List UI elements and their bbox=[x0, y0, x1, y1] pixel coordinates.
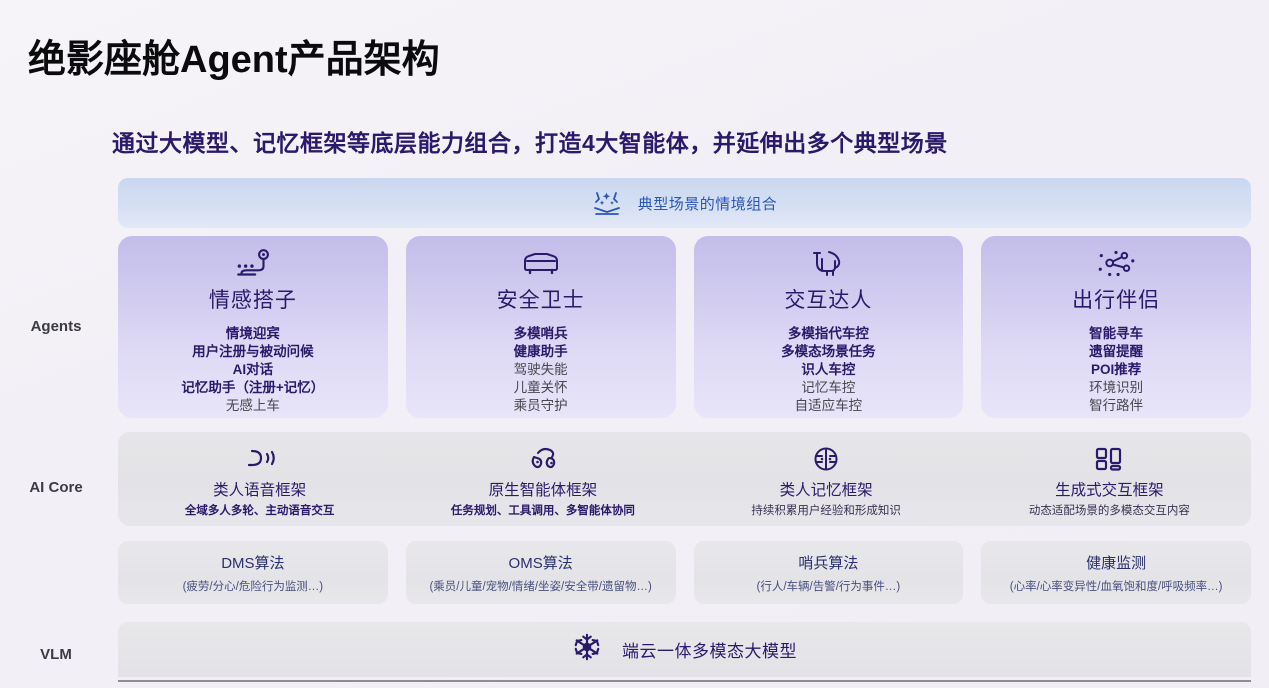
agent-name: 安全卫士 bbox=[497, 284, 585, 314]
agent-item-list: 多模指代车控 多模态场景任务 识人车控 记忆车控 自适应车控 bbox=[781, 325, 876, 415]
brain-icon bbox=[811, 443, 841, 475]
scenario-banner-label: 典型场景的情境组合 bbox=[638, 193, 778, 214]
algorithm-subtitle: (乘员/儿童/宠物/情绪/坐姿/安全带/遗留物…) bbox=[429, 578, 651, 594]
agent-item-list: 智能寻车 遗留提醒 POI推荐 环境识别 智行路伴 bbox=[1089, 325, 1143, 415]
agent-item-list: 情境迎宾 用户注册与被动问候 AI对话 记忆助手（注册+记忆） 无感上车 bbox=[181, 325, 324, 415]
ai-core-title: 类人语音框架 bbox=[213, 478, 306, 500]
algorithm-subtitle: (疲劳/分心/危险行为监测…) bbox=[183, 578, 324, 594]
row-label-vlm: VLM bbox=[0, 646, 112, 663]
algorithm-card-oms[interactable]: OMS算法 (乘员/儿童/宠物/情绪/坐姿/安全带/遗留物…) bbox=[406, 541, 676, 604]
agent-robot-icon bbox=[525, 443, 561, 475]
algorithm-card-health[interactable]: 健康监测 (心率/心率变异性/血氧饱和度/呼吸频率…) bbox=[981, 541, 1251, 604]
agent-item-list: 多模哨兵 健康助手 驾驶失能 儿童关怀 乘员守护 bbox=[514, 325, 568, 415]
car-front-icon bbox=[519, 247, 563, 281]
agent-item: 遗留提醒 bbox=[1089, 343, 1143, 361]
row-label-agents: Agents bbox=[0, 318, 112, 335]
page-title: 绝影座舱Agent产品架构 bbox=[28, 28, 440, 83]
agent-item: 驾驶失能 bbox=[514, 361, 568, 379]
agent-item: 记忆车控 bbox=[781, 379, 876, 397]
hand-gesture-icon bbox=[809, 247, 847, 281]
voice-wave-icon bbox=[243, 443, 277, 475]
agent-item: AI对话 bbox=[181, 361, 324, 379]
agent-item: 乘员守护 bbox=[514, 397, 568, 415]
agent-item: 多模态场景任务 bbox=[781, 343, 876, 361]
route-pin-icon bbox=[232, 247, 274, 281]
ai-core-title: 生成式交互框架 bbox=[1055, 478, 1164, 500]
row-label-ai-core: AI Core bbox=[0, 479, 112, 496]
agent-name: 出行伴侣 bbox=[1072, 284, 1160, 314]
algorithm-title: 健康监测 bbox=[1086, 552, 1146, 573]
layout-blocks-icon bbox=[1094, 443, 1124, 475]
ai-core-subtitle: 动态适配场景的多模态交互内容 bbox=[1029, 502, 1190, 518]
agent-item: 记忆助手（注册+记忆） bbox=[181, 379, 324, 397]
snowflake-cube-icon bbox=[572, 632, 602, 667]
vlm-label: 端云一体多模态大模型 bbox=[622, 637, 797, 662]
algorithm-title: 哨兵算法 bbox=[798, 552, 858, 573]
network-nodes-icon bbox=[1095, 247, 1137, 281]
algorithm-title: DMS算法 bbox=[221, 552, 284, 573]
algorithm-title: OMS算法 bbox=[509, 552, 573, 573]
ai-core-title: 类人记忆框架 bbox=[780, 478, 873, 500]
scenario-banner: 典型场景的情境组合 bbox=[118, 178, 1251, 228]
bottom-divider bbox=[118, 680, 1251, 682]
agent-item: 儿童关怀 bbox=[514, 379, 568, 397]
sparkle-scene-icon bbox=[592, 190, 620, 216]
ai-core-item-generative[interactable]: 生成式交互框架 动态适配场景的多模态交互内容 bbox=[968, 432, 1251, 526]
agents-row: 情感搭子 情境迎宾 用户注册与被动问候 AI对话 记忆助手（注册+记忆） 无感上… bbox=[118, 236, 1251, 418]
agent-item: 情境迎宾 bbox=[181, 325, 324, 343]
algorithm-row: DMS算法 (疲劳/分心/危险行为监测…) OMS算法 (乘员/儿童/宠物/情绪… bbox=[118, 541, 1251, 604]
ai-core-subtitle: 全域多人多轮、主动语音交互 bbox=[185, 502, 335, 518]
agent-card-emotion[interactable]: 情感搭子 情境迎宾 用户注册与被动问候 AI对话 记忆助手（注册+记忆） 无感上… bbox=[118, 236, 388, 418]
agent-card-interaction[interactable]: 交互达人 多模指代车控 多模态场景任务 识人车控 记忆车控 自适应车控 bbox=[694, 236, 964, 418]
agent-card-safety[interactable]: 安全卫士 多模哨兵 健康助手 驾驶失能 儿童关怀 乘员守护 bbox=[406, 236, 676, 418]
algorithm-card-dms[interactable]: DMS算法 (疲劳/分心/危险行为监测…) bbox=[118, 541, 388, 604]
agent-item: 智能寻车 bbox=[1089, 325, 1143, 343]
agent-item: 智行路伴 bbox=[1089, 397, 1143, 415]
page-subtitle: 通过大模型、记忆框架等底层能力组合，打造4大智能体，并延伸出多个典型场景 bbox=[112, 124, 948, 158]
agent-item: 多模指代车控 bbox=[781, 325, 876, 343]
agent-item: 识人车控 bbox=[781, 361, 876, 379]
agent-name: 交互达人 bbox=[784, 284, 872, 314]
slide-root: 绝影座舱Agent产品架构 通过大模型、记忆框架等底层能力组合，打造4大智能体，… bbox=[0, 0, 1269, 688]
agent-item: 健康助手 bbox=[514, 343, 568, 361]
agent-card-travel[interactable]: 出行伴侣 智能寻车 遗留提醒 POI推荐 环境识别 智行路伴 bbox=[981, 236, 1251, 418]
algorithm-subtitle: (心率/心率变异性/血氧饱和度/呼吸频率…) bbox=[1010, 578, 1223, 594]
ai-core-title: 原生智能体框架 bbox=[489, 478, 598, 500]
agent-item: 无感上车 bbox=[181, 397, 324, 415]
vlm-row: 端云一体多模态大模型 bbox=[118, 622, 1251, 677]
ai-core-item-memory[interactable]: 类人记忆框架 持续积累用户经验和形成知识 bbox=[685, 432, 968, 526]
ai-core-item-voice[interactable]: 类人语音框架 全域多人多轮、主动语音交互 bbox=[118, 432, 401, 526]
agent-item: 多模哨兵 bbox=[514, 325, 568, 343]
ai-core-panel: 类人语音框架 全域多人多轮、主动语音交互 原生智能体框架 任务规划、工具调用、多… bbox=[118, 432, 1251, 526]
agent-item: POI推荐 bbox=[1089, 361, 1143, 379]
algorithm-card-sentry[interactable]: 哨兵算法 (行人/车辆/告警/行为事件…) bbox=[694, 541, 964, 604]
agent-item: 用户注册与被动问候 bbox=[181, 343, 324, 361]
ai-core-subtitle: 任务规划、工具调用、多智能体协同 bbox=[451, 502, 635, 518]
ai-core-subtitle: 持续积累用户经验和形成知识 bbox=[751, 502, 901, 518]
algorithm-subtitle: (行人/车辆/告警/行为事件…) bbox=[757, 578, 901, 594]
agent-item: 环境识别 bbox=[1089, 379, 1143, 397]
agent-item: 自适应车控 bbox=[781, 397, 876, 415]
ai-core-item-agent-framework[interactable]: 原生智能体框架 任务规划、工具调用、多智能体协同 bbox=[401, 432, 684, 526]
agent-name: 情感搭子 bbox=[209, 284, 297, 314]
